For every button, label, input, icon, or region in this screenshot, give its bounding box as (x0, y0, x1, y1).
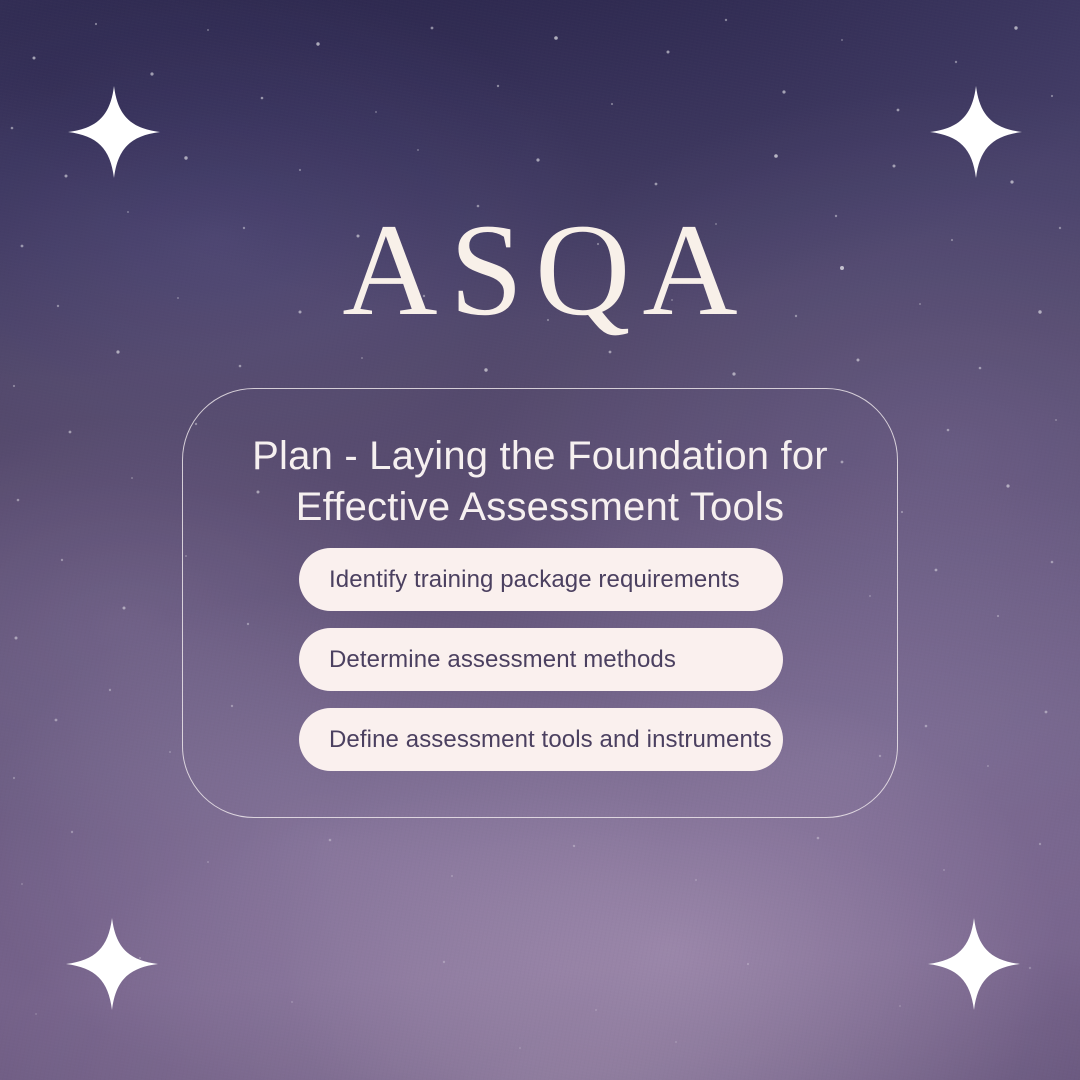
step-pill[interactable]: Define assessment tools and instruments (299, 708, 783, 771)
sparkle-bottom-left-icon (66, 918, 158, 1010)
card-heading: Plan - Laying the Foundation for Effecti… (217, 431, 863, 533)
brand-title: ASQA (0, 204, 1080, 336)
sparkle-top-right-icon (930, 86, 1022, 178)
poster-canvas: ASQA Plan - Laying the Foundation for Ef… (0, 0, 1080, 1080)
step-pill[interactable]: Determine assessment methods (299, 628, 783, 691)
sparkle-top-left-icon (68, 86, 160, 178)
step-pill[interactable]: Identify training package requirements (299, 548, 783, 611)
sparkle-bottom-right-icon (928, 918, 1020, 1010)
step-pill-list: Identify training package requirements D… (299, 548, 783, 771)
content-card: Plan - Laying the Foundation for Effecti… (182, 388, 898, 818)
